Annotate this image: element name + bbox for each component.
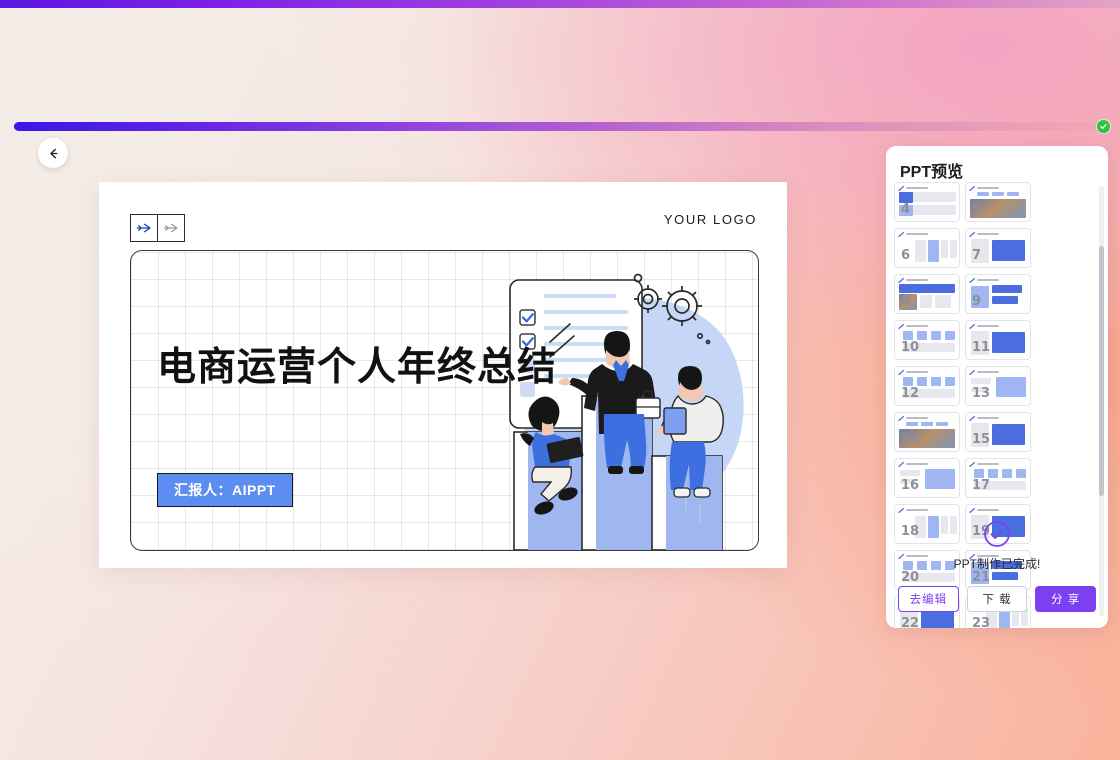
slide-marker-icon <box>969 462 976 467</box>
slide-presenter-badge: 汇报人：AIPPT <box>157 473 293 507</box>
thumbnail-number: 4 <box>901 203 910 216</box>
slide-preview-card[interactable]: YOUR LOGO <box>99 182 787 568</box>
slide-title: 电商运营个人年终总结 <box>157 336 557 392</box>
panel-actions: 去编辑 下 载 分 享 <box>898 586 1096 612</box>
thumbnail-block <box>931 331 941 340</box>
thumbnail-number: 5 <box>972 203 981 216</box>
thumbnail-number: 11 <box>972 341 990 354</box>
slide-plane-icons <box>130 214 185 242</box>
thumbnail-block <box>935 295 951 308</box>
go-edit-button[interactable]: 去编辑 <box>898 586 959 612</box>
thumbnail-block <box>915 240 926 262</box>
thumbnail-number: 7 <box>972 249 981 262</box>
slide-marker-icon <box>969 186 976 191</box>
thumbnail-title-bar <box>977 417 999 420</box>
people-on-bar-chart-illustration <box>492 250 759 550</box>
thumbnail-title-bar <box>977 371 999 374</box>
thumbnail-block <box>992 424 1025 445</box>
paper-plane-blue-icon <box>130 214 158 242</box>
completion-status: PPT制作已完成! <box>886 520 1108 572</box>
thumbnail-number: 14 <box>901 433 919 446</box>
thumbnail-slide-5[interactable]: 5 <box>965 182 1031 222</box>
thumbnail-block <box>936 422 948 426</box>
thumbnail-block <box>928 240 939 262</box>
thumbnail-title-bar <box>977 187 999 190</box>
thumbnail-slide-14[interactable]: 14 <box>894 412 960 452</box>
slide-marker-icon <box>898 232 905 237</box>
thumbnail-block <box>941 240 948 258</box>
thumbnail-slide-15[interactable]: 15 <box>965 412 1031 452</box>
slide-marker-icon <box>898 462 905 467</box>
thumbnail-title-bar <box>906 279 928 282</box>
ppt-preview-panel: PPT预览 4567891011121314151617181920212223… <box>886 146 1108 628</box>
thumbnail-block <box>974 469 984 478</box>
thumbnail-title-bar <box>977 463 999 466</box>
generation-progress <box>14 122 1104 131</box>
thumbnail-block <box>920 295 932 308</box>
thumbnail-number: 16 <box>901 479 919 492</box>
thumbnail-block <box>1007 192 1019 196</box>
slide-marker-icon <box>969 278 976 283</box>
thumbnail-title-bar <box>906 463 928 466</box>
thumbnail-block <box>925 469 955 489</box>
thumbnail-block <box>917 331 927 340</box>
thumbnail-number: 6 <box>901 249 910 262</box>
slide-content-frame: 电商运营个人年终总结 汇报人：AIPPT <box>130 250 759 551</box>
slide-marker-icon <box>969 232 976 237</box>
slide-marker-icon <box>969 416 976 421</box>
thumbnail-block <box>906 422 918 426</box>
paper-plane-gray-icon <box>158 214 185 242</box>
panel-title: PPT预览 <box>900 158 963 182</box>
back-button[interactable] <box>38 138 68 168</box>
thumbnail-block <box>900 470 920 476</box>
thumbnail-title-bar <box>977 233 999 236</box>
thumbnail-slide-10[interactable]: 10 <box>894 320 960 360</box>
thumbnail-number: 10 <box>901 341 919 354</box>
thumbnail-block <box>977 192 989 196</box>
thumbnail-block <box>1016 469 1026 478</box>
thumbnail-block <box>1002 469 1012 478</box>
thumbnail-block <box>931 377 941 386</box>
thumbnail-number: 17 <box>972 479 990 492</box>
thumbnail-number: 9 <box>972 295 981 308</box>
share-button[interactable]: 分 享 <box>1035 586 1096 612</box>
thumbnail-block <box>917 377 927 386</box>
thumbnail-slide-11[interactable]: 11 <box>965 320 1031 360</box>
thumbnail-block <box>906 192 956 202</box>
app-root: YOUR LOGO <box>0 0 1120 760</box>
slide-marker-icon <box>898 186 905 191</box>
thumbnail-slide-4[interactable]: 4 <box>894 182 960 222</box>
slide-marker-icon <box>969 324 976 329</box>
slide-marker-icon <box>898 508 905 513</box>
arrow-left-icon <box>46 146 61 161</box>
thumbnail-slide-17[interactable]: 17 <box>965 458 1031 498</box>
thumbnail-title-bar <box>906 325 928 328</box>
thumbnail-title-bar <box>977 325 999 328</box>
slide-marker-icon <box>898 324 905 329</box>
slide-marker-icon <box>898 416 905 421</box>
thumbnail-number: 23 <box>972 617 990 628</box>
thumbnail-number: 22 <box>901 617 919 628</box>
thumbnail-number: 15 <box>972 433 990 446</box>
thumbnail-title-bar <box>906 509 928 512</box>
thumbnail-title-bar <box>906 233 928 236</box>
thumbnail-number: 8 <box>901 295 910 308</box>
thumbnail-block <box>950 240 957 258</box>
thumbnail-block <box>992 332 1025 353</box>
thumbnail-slide-9[interactable]: 9 <box>965 274 1031 314</box>
thumbnail-slide-12[interactable]: 12 <box>894 366 960 406</box>
progress-bar-fill <box>14 122 1104 131</box>
thumbnail-block <box>992 285 1022 293</box>
thumbnail-block <box>899 284 955 293</box>
download-button[interactable]: 下 载 <box>967 586 1028 612</box>
top-accent-bar <box>0 0 1120 8</box>
thumbnail-block <box>971 378 991 384</box>
thumbnail-number: 13 <box>972 387 990 400</box>
thumbnail-block <box>992 296 1018 304</box>
thumbnail-block <box>992 192 1004 196</box>
check-circle-purple-icon <box>886 520 1108 548</box>
thumbnail-title-bar <box>906 187 928 190</box>
thumbnail-block <box>996 377 1026 397</box>
scrollbar-thumb[interactable] <box>1099 246 1104 496</box>
thumbnail-slide-6[interactable]: 6 <box>894 228 960 268</box>
slide-logo-text: YOUR LOGO <box>664 212 757 227</box>
thumbnail-slide-16[interactable]: 16 <box>894 458 960 498</box>
check-circle-green-icon <box>1097 120 1110 133</box>
thumbnail-slide-13[interactable]: 13 <box>965 366 1031 406</box>
thumbnail-block <box>906 205 956 215</box>
slide-marker-icon <box>898 370 905 375</box>
thumbnail-number: 20 <box>901 571 919 584</box>
thumbnail-block <box>992 572 1018 580</box>
thumbnail-block <box>992 240 1025 261</box>
thumbnail-block <box>903 331 913 340</box>
thumbnail-slide-7[interactable]: 7 <box>965 228 1031 268</box>
thumbnail-block <box>988 469 998 478</box>
thumbnail-number: 21 <box>972 571 990 584</box>
slide-marker-icon <box>969 508 976 513</box>
slide-marker-icon <box>969 370 976 375</box>
thumbnail-title-bar <box>906 417 928 420</box>
completion-text: PPT制作已完成! <box>886 555 1108 572</box>
thumbnail-slide-8[interactable]: 8 <box>894 274 960 314</box>
thumbnail-block <box>945 377 955 386</box>
thumbnail-block <box>945 331 955 340</box>
thumbnail-block <box>921 422 933 426</box>
thumbnail-title-bar <box>977 509 999 512</box>
thumbnail-block <box>903 377 913 386</box>
thumbnail-title-bar <box>977 279 999 282</box>
thumbnail-number: 12 <box>901 387 919 400</box>
thumbnail-title-bar <box>906 371 928 374</box>
slide-marker-icon <box>898 278 905 283</box>
